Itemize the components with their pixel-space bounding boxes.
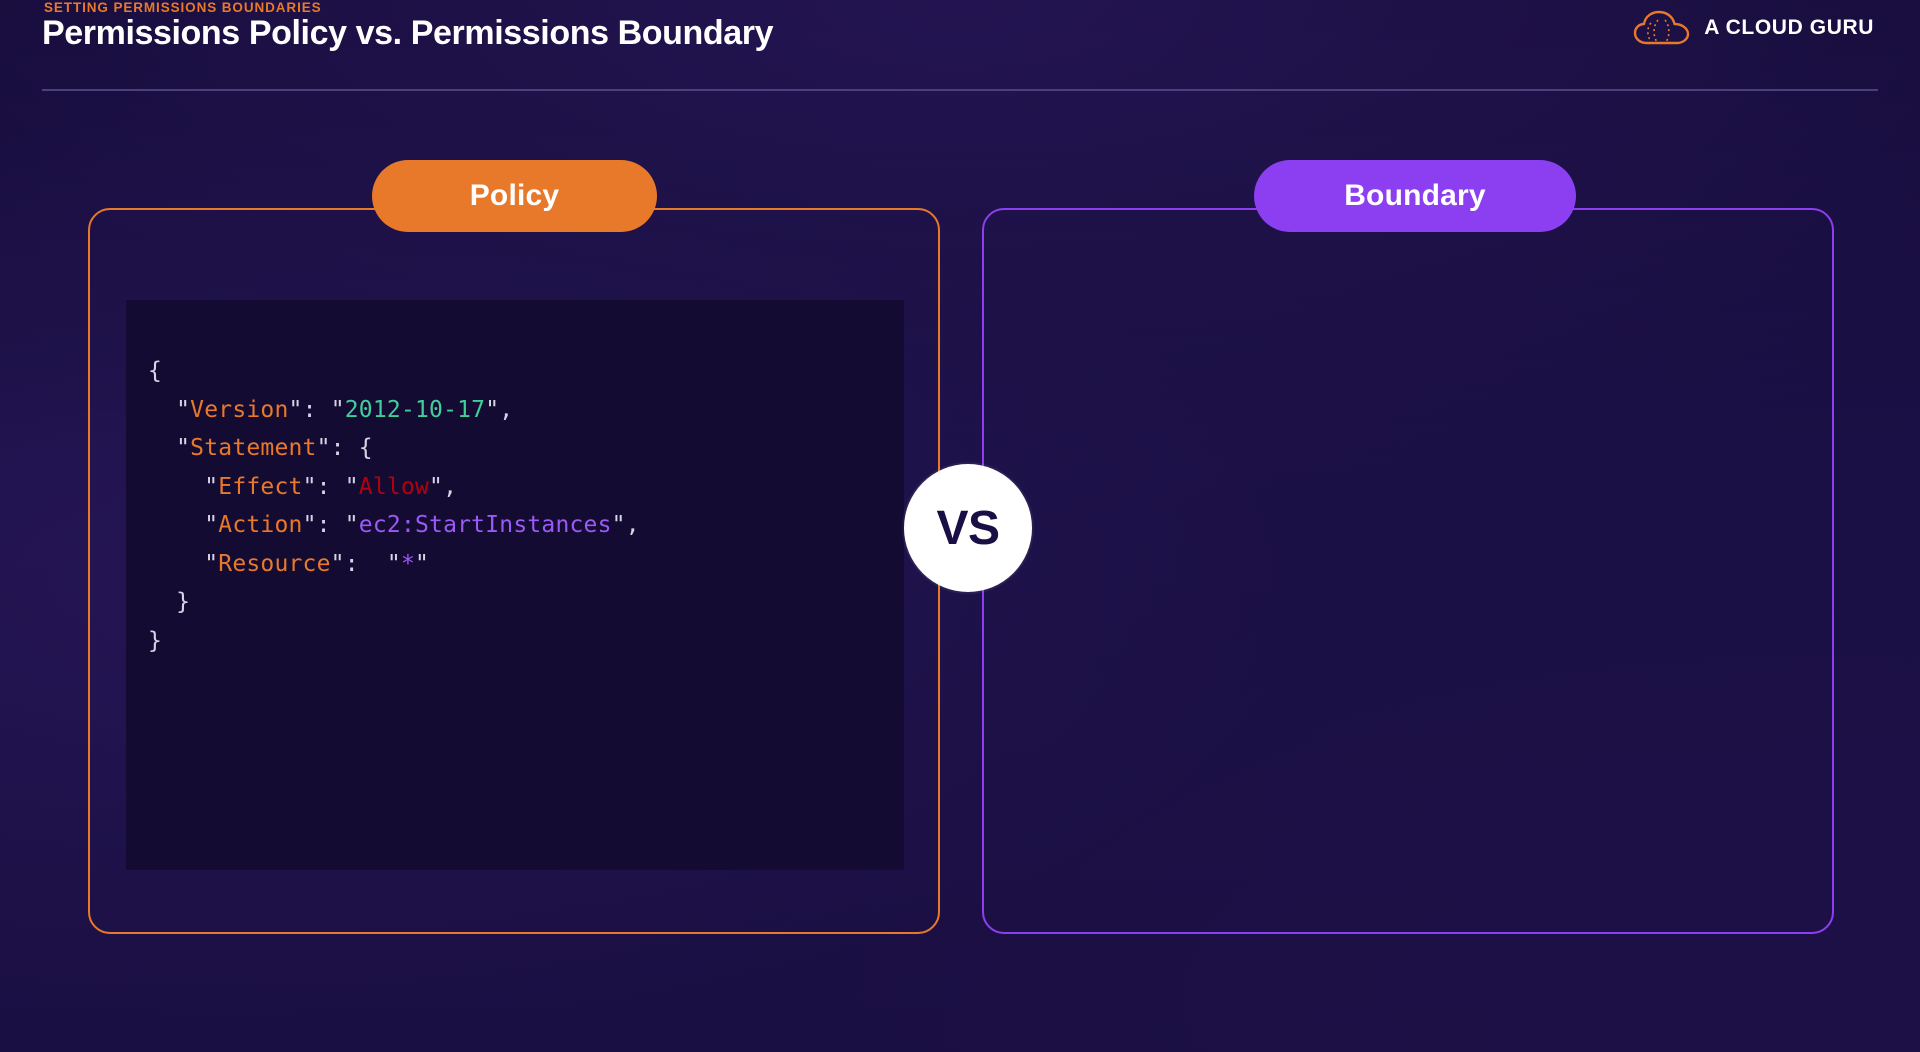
eyebrow-label: SETTING PERMISSIONS BOUNDARIES	[44, 0, 322, 15]
header-divider	[42, 89, 1878, 91]
page-title: Permissions Policy vs. Permissions Bound…	[42, 14, 773, 53]
slide-header: SETTING PERMISSIONS BOUNDARIES Permissio…	[0, 0, 1920, 92]
boundary-card	[982, 208, 1834, 934]
cloud-outline-icon	[1633, 9, 1691, 47]
policy-code-block: { "Version": "2012-10-17", "Statement": …	[148, 352, 640, 660]
brand: A CLOUD GURU	[1633, 9, 1874, 47]
brand-name: A CLOUD GURU	[1704, 16, 1874, 40]
boundary-badge: Boundary	[1254, 160, 1576, 232]
versus-badge: VS	[904, 464, 1032, 592]
policy-badge: Policy	[372, 160, 657, 232]
slide: SETTING PERMISSIONS BOUNDARIES Permissio…	[0, 0, 1920, 1052]
policy-code-panel: { "Version": "2012-10-17", "Statement": …	[126, 300, 904, 870]
